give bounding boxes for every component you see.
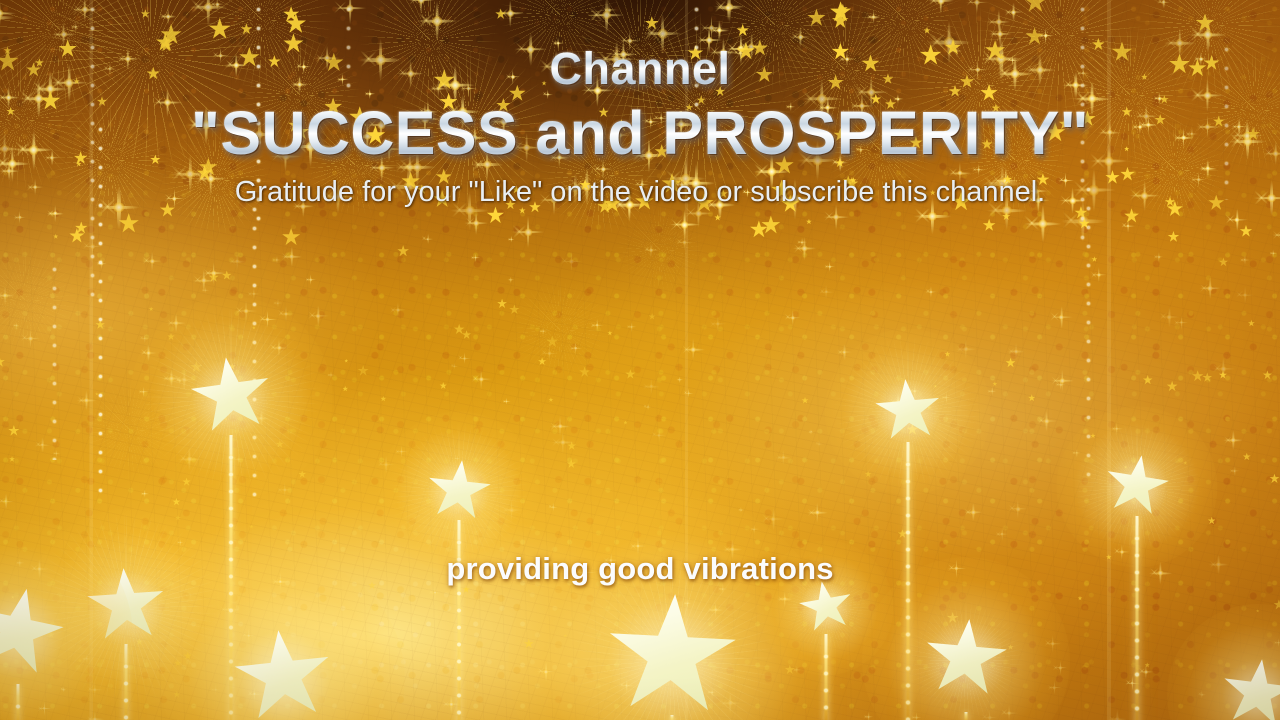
- sparkle-core: [649, 248, 653, 252]
- sparkle-icon: [631, 138, 666, 173]
- star-stalk-beads: [451, 534, 467, 720]
- sparkle-ray-diagonal: [501, 505, 510, 514]
- sparkle-ray-horizontal: [178, 458, 201, 460]
- sparkle-core: [101, 263, 104, 266]
- sparkle-core: [418, 0, 425, 4]
- sparkle-ray-horizontal: [1235, 294, 1254, 295]
- sparkle-ray-diagonal: [1231, 128, 1245, 142]
- sparkle-icon: [856, 144, 867, 155]
- mini-star-icon: [655, 144, 669, 158]
- sparkle-core: [975, 67, 980, 72]
- sparkle-core: [406, 164, 413, 171]
- sparkle-ray-horizontal: [738, 510, 744, 511]
- sparkle-icon: [1272, 224, 1280, 246]
- sparkle-ray-vertical: [790, 101, 791, 111]
- sparkle-ray-horizontal: [305, 279, 316, 280]
- mini-star-icon: [697, 95, 706, 104]
- sparkle-core: [767, 167, 776, 176]
- sparkle-ray-horizontal: [925, 291, 937, 292]
- sparkle-ray-vertical: [680, 110, 682, 140]
- sparkle-core: [915, 716, 918, 719]
- mini-star-icon: [173, 691, 180, 698]
- sparkle-ray-vertical: [1275, 141, 1277, 166]
- sparkle-ray-diagonal: [915, 207, 931, 223]
- mini-star-icon: [1143, 375, 1153, 385]
- sparkle-icon: [490, 108, 519, 137]
- sparkle-core: [237, 457, 240, 460]
- sparkle-icon: [0, 493, 14, 510]
- sparkle-ray-horizontal: [644, 406, 652, 407]
- sparkle-icon: [548, 502, 558, 512]
- sparkle-core: [1012, 59, 1015, 62]
- sparkle-ray-diagonal: [1240, 257, 1245, 262]
- sparkle-core: [891, 132, 895, 136]
- sparkle-icon: [1062, 71, 1089, 98]
- sparkle-icon: [0, 161, 19, 181]
- sparkle-ray-vertical: [84, 0, 86, 23]
- sparkle-icon: [549, 416, 570, 437]
- sparkle-ray-diagonal: [454, 457, 457, 460]
- star-stalk: [1136, 516, 1139, 720]
- sparkle-core: [510, 279, 512, 281]
- sparkle-ray-diagonal: [568, 178, 584, 194]
- sparkle-ray-vertical: [465, 106, 466, 123]
- sparkle-core: [569, 259, 574, 264]
- sparkle-ray-vertical: [999, 23, 1001, 45]
- sparkle-icon: [352, 122, 381, 151]
- sparkle-ray-diagonal: [710, 136, 715, 141]
- sparkle-icon: [248, 288, 260, 300]
- mini-star-icon: [1075, 206, 1088, 219]
- sparkle-icon: [966, 59, 988, 81]
- sparkle-ray-diagonal: [889, 397, 897, 405]
- sparkle-core: [1231, 438, 1236, 443]
- sparkle-icon: [1235, 285, 1254, 304]
- sparkle-icon: [642, 13, 683, 54]
- sparkle-ray-vertical: [650, 113, 651, 129]
- sparkle-ray-diagonal: [258, 315, 266, 323]
- sparkle-ray-diagonal: [1264, 148, 1274, 158]
- sparkle-ray-vertical: [816, 140, 819, 181]
- sparkle-core: [738, 52, 741, 55]
- sparkle-core: [306, 141, 316, 151]
- mini-star-icon: [1270, 474, 1280, 484]
- sparkle-ray-diagonal: [20, 90, 36, 106]
- sparkle-ray-diagonal: [738, 40, 750, 52]
- mini-star-icon: [141, 9, 150, 18]
- star-burst: [25, 0, 275, 180]
- mini-star-icon: [1165, 197, 1175, 207]
- sparkle-ray-vertical: [94, 711, 95, 720]
- sparkle-core: [478, 376, 483, 381]
- sparkle-ray-horizontal: [512, 231, 545, 234]
- sparkle-ray-vertical: [819, 440, 820, 448]
- mini-star-icon: [639, 690, 645, 696]
- sparkle-ray-vertical: [931, 286, 932, 298]
- sparkle-ray-diagonal: [232, 456, 238, 462]
- background-right-wash: [0, 0, 1280, 720]
- mini-star-icon: [838, 4, 848, 14]
- sparkle-ray-horizontal: [793, 670, 801, 671]
- sparkle-ray-diagonal: [417, 12, 435, 30]
- mini-star-icon: [645, 16, 659, 30]
- sparkle-ray-horizontal: [1195, 126, 1219, 128]
- sparkle-ray-horizontal: [142, 260, 163, 262]
- mini-star-icon: [283, 33, 303, 53]
- sparkle-trail: [1222, 40, 1238, 200]
- sparkle-ray-horizontal: [203, 273, 225, 275]
- sparkle-ray-diagonal: [512, 141, 525, 154]
- sparkle-ray-vertical: [1270, 180, 1273, 217]
- sparkle-icon: [1055, 380, 1066, 391]
- sparkle-ray-diagonal: [140, 348, 148, 356]
- sparkle-ray-horizontal: [451, 365, 458, 366]
- mini-star-icon: [781, 195, 799, 213]
- sparkle-icon: [536, 661, 556, 681]
- sparkle-ray-horizontal: [470, 163, 503, 166]
- sparkle-icon: [53, 450, 60, 457]
- sparkle-icon: [1198, 690, 1207, 699]
- sparkle-ray-vertical: [39, 559, 40, 579]
- sparkle-core: [819, 443, 821, 445]
- sparkle-ray-diagonal: [1008, 504, 1016, 512]
- sparkle-ray-diagonal: [176, 378, 179, 381]
- sparkle-icon: [377, 455, 395, 473]
- sparkle-ray-diagonal: [430, 85, 437, 92]
- mini-star-icon: [358, 365, 369, 376]
- sparkle-icon: [514, 33, 547, 66]
- sparkle-icon: [543, 89, 554, 100]
- sparkle-ray-diagonal: [705, 198, 718, 211]
- sparkle-ray-vertical: [1234, 466, 1235, 476]
- sparkle-ray-diagonal: [987, 16, 997, 26]
- sparkle-ray-diagonal: [1199, 165, 1206, 172]
- sparkle-ray-horizontal: [194, 177, 228, 180]
- sparkle-ray-diagonal: [643, 24, 660, 41]
- sparkle-ray-vertical: [290, 681, 292, 704]
- sparkle-icon: [710, 135, 725, 150]
- sparkle-ray-vertical: [873, 10, 874, 25]
- sparkle-ray-diagonal: [560, 256, 569, 265]
- sparkle-ray-diagonal: [676, 238, 683, 245]
- sparkle-ray-diagonal: [35, 441, 42, 448]
- sparkle-ray-diagonal: [1209, 560, 1217, 568]
- video-frame: Channel "SUCCESS and PROSPERITY" Gratitu…: [0, 0, 1280, 720]
- sparkle-core: [247, 633, 251, 637]
- sparkle-ray-horizontal: [707, 609, 724, 610]
- sparkle-ray-horizontal: [49, 81, 89, 84]
- sparkle-icon: [290, 126, 331, 167]
- sparkle-ray-diagonal: [0, 155, 10, 170]
- sparkle-core: [825, 106, 830, 111]
- sparkle-ray-horizontal: [86, 689, 104, 690]
- sparkle-ray-diagonal: [360, 50, 378, 68]
- sparkle-ray-diagonal: [777, 595, 784, 602]
- sparkle-ray-vertical: [1061, 369, 1063, 392]
- sparkle-core: [1190, 132, 1193, 135]
- sparkle-ray-diagonal: [818, 103, 827, 112]
- sparkle-ray-vertical: [302, 196, 304, 218]
- sparkle-core: [679, 379, 681, 381]
- sparkle-ray-diagonal: [269, 343, 277, 351]
- sparkle-ray-diagonal: [277, 486, 284, 493]
- sparkle-ray-horizontal: [817, 107, 838, 109]
- mini-star-icon: [184, 652, 193, 661]
- sparkle-icon: [1076, 66, 1090, 80]
- sparkle-ray-vertical: [684, 210, 686, 241]
- sparkle-core: [41, 443, 45, 447]
- sparkle-ray-horizontal: [549, 426, 570, 428]
- sparkle-ray-diagonal: [471, 157, 485, 171]
- sparkle-ray-horizontal: [427, 592, 443, 593]
- sparkle-ray-vertical: [1246, 123, 1249, 160]
- sparkle-ray-vertical: [370, 89, 371, 100]
- sparkle-icon: [986, 10, 1010, 34]
- sparkle-icon: [1263, 141, 1280, 166]
- sparkle-icon: [167, 314, 185, 332]
- sparkle-ray-diagonal: [774, 189, 792, 207]
- sparkle-ray-horizontal: [460, 88, 477, 89]
- mini-star-icon: [95, 392, 99, 396]
- sparkle-core: [181, 377, 187, 383]
- sparkle-core: [201, 121, 210, 130]
- sparkle-ray-diagonal: [808, 430, 811, 433]
- mini-star-icon: [1256, 609, 1259, 612]
- sparkle-ray-diagonal: [738, 40, 750, 52]
- sparkle-core: [659, 116, 663, 120]
- mini-star-icon: [934, 385, 937, 388]
- sparkle-ray-diagonal: [443, 700, 451, 708]
- sparkle-ray-diagonal: [992, 174, 1004, 186]
- sparkle-ray-diagonal: [1185, 130, 1191, 136]
- mini-star-icon: [249, 524, 253, 528]
- sparkle-ray-diagonal: [177, 541, 181, 545]
- sparkle-ray-vertical: [1158, 252, 1159, 262]
- sparkle-ray-vertical: [684, 234, 685, 251]
- sparkle-ray-vertical: [844, 345, 845, 361]
- mini-star-icon: [161, 24, 182, 45]
- sparkle-ray-diagonal: [839, 55, 846, 62]
- sparkle-ray-diagonal: [1038, 32, 1045, 39]
- sparkle-ray-horizontal: [677, 379, 684, 380]
- mini-star-icon: [991, 103, 1000, 112]
- sparkle-ray-diagonal: [115, 595, 120, 600]
- sparkle-ray-diagonal: [471, 157, 485, 171]
- sparkle-ray-horizontal: [272, 260, 280, 261]
- mini-star-icon: [1167, 381, 1178, 392]
- sparkle-ray-diagonal: [1198, 692, 1202, 696]
- sparkle-ray-vertical: [620, 58, 622, 79]
- sparkle-ray-diagonal: [643, 118, 650, 125]
- sparkle-ray-diagonal: [451, 364, 455, 368]
- sparkle-ray-vertical: [309, 126, 312, 167]
- sparkle-icon: [291, 76, 309, 94]
- mini-star-icon: [567, 459, 576, 468]
- sparkle-icon: [396, 59, 425, 88]
- mini-star-icon: [496, 98, 510, 112]
- sparkle-core: [187, 456, 193, 462]
- sparkle-ray-horizontal: [506, 76, 521, 77]
- sparkle-ray-horizontal: [802, 98, 842, 101]
- mini-star-icon: [579, 179, 590, 190]
- sparkle-ray-horizontal: [396, 73, 425, 75]
- sparkle-ray-diagonal: [1057, 176, 1064, 183]
- sparkle-ray-horizontal: [81, 658, 91, 659]
- sparkle-core: [897, 98, 899, 100]
- mini-star-icon: [750, 220, 768, 238]
- sparkle-ray-horizontal: [541, 352, 558, 353]
- sparkle-icon: [797, 238, 807, 248]
- sparkle-icon: [837, 345, 853, 361]
- sparkle-ray-diagonal: [377, 460, 385, 468]
- sparkle-icon: [609, 40, 638, 69]
- sparkle-core: [90, 244, 95, 249]
- sparkle-ray-diagonal: [539, 192, 552, 205]
- sparkle-ray-diagonal: [632, 147, 647, 162]
- sparkle-core: [507, 10, 514, 17]
- sparkle-ray-vertical: [388, 136, 390, 162]
- sparkle-ray-diagonal: [705, 198, 718, 211]
- sparkle-ray-horizontal: [376, 148, 402, 150]
- mini-star-icon: [603, 194, 621, 212]
- sparkle-ray-vertical: [1005, 190, 1008, 231]
- sparkle-core: [185, 169, 194, 178]
- sparkle-ray-horizontal: [1174, 322, 1189, 323]
- mini-star-icon: [845, 177, 858, 190]
- sparkle-core: [1075, 452, 1077, 454]
- sparkle-ray-diagonal: [550, 421, 559, 430]
- sparkle-ray-diagonal: [734, 50, 739, 55]
- sparkle-core: [483, 161, 491, 169]
- sparkle-ray-vertical: [462, 94, 465, 129]
- sparkle-ray-diagonal: [1274, 640, 1278, 644]
- sparkle-ray-horizontal: [602, 10, 616, 11]
- sparkle-ray-horizontal: [723, 549, 743, 550]
- sparkle-ray-vertical: [267, 310, 268, 329]
- sparkle-core: [1144, 670, 1148, 674]
- mini-star-icon: [635, 192, 654, 211]
- sparkle-ray-diagonal: [159, 12, 167, 20]
- sparkle-ray-diagonal: [1111, 426, 1117, 432]
- sparkle-icon: [1229, 123, 1266, 160]
- sparkle-ray-diagonal: [44, 154, 51, 161]
- sparkle-ray-diagonal: [506, 73, 512, 79]
- sparkle-icon: [1229, 466, 1239, 476]
- sparkle-ray-vertical: [545, 661, 547, 681]
- sparkle-ray-horizontal: [762, 518, 785, 520]
- sparkle-icon: [177, 539, 184, 546]
- sparkle-core: [963, 346, 968, 351]
- sparkle-ray-diagonal: [925, 289, 930, 294]
- sparkle-ray-horizontal: [1185, 133, 1199, 134]
- sparkle-core: [867, 88, 875, 96]
- sparkle-ray-vertical: [732, 540, 733, 560]
- sparkle-ray-diagonal: [613, 196, 627, 210]
- sparkle-ray-diagonal: [665, 169, 683, 187]
- sparkle-core: [1162, 0, 1165, 3]
- mini-star-icon: [175, 515, 181, 521]
- sparkle-ray-diagonal: [683, 602, 687, 606]
- sparkle-ray-diagonal: [399, 159, 415, 175]
- sparkle-trail: [344, 0, 360, 90]
- sparkle-icon: [1253, 180, 1280, 217]
- sparkle-ray-vertical: [337, 179, 340, 213]
- sparkle-core: [425, 109, 430, 114]
- sparkle-ray-horizontal: [167, 323, 185, 324]
- sparkle-icon: [717, 584, 727, 594]
- sparkle-ray-diagonal: [725, 41, 738, 54]
- sparkle-ray-horizontal: [536, 671, 556, 673]
- star-burst: [1120, 115, 1230, 225]
- sparkle-ray-horizontal: [1231, 126, 1247, 127]
- sparkle-icon: [950, 45, 962, 57]
- star-burst: [75, 375, 185, 485]
- sparkle-ray-vertical: [475, 254, 476, 263]
- sparkle-ray-diagonal: [818, 103, 827, 112]
- sparkle-core: [1044, 34, 1048, 38]
- sparkle-ray-diagonal: [802, 90, 819, 107]
- sparkle-ray-vertical: [215, 683, 216, 696]
- mini-star-icon: [804, 563, 811, 570]
- sparkle-icon: [849, 94, 873, 118]
- star-bottom-edge: [0, 0, 1280, 720]
- mini-star-icon: [607, 331, 612, 336]
- sparkle-ray-diagonal: [1060, 195, 1071, 206]
- sparkle-icon: [677, 377, 684, 384]
- sparkle-ray-diagonal: [508, 278, 511, 281]
- mini-star-icon: [1045, 122, 1065, 142]
- sparkle-ray-diagonal: [1159, 312, 1168, 321]
- sparkle-icon: [172, 368, 196, 392]
- sparkle-ray-horizontal: [514, 48, 547, 50]
- sparkle-ray-vertical: [235, 53, 237, 77]
- sparkle-ray-diagonal: [1157, 0, 1163, 4]
- sparkle-ray-diagonal: [676, 378, 679, 381]
- sparkle-ray-diagonal: [1025, 63, 1038, 76]
- sparkle-ray-diagonal: [850, 100, 860, 110]
- mini-star-icon: [9, 456, 15, 462]
- sparkle-ray-horizontal: [0, 501, 14, 502]
- mini-star-icon: [519, 207, 526, 214]
- star-left-tall: [0, 0, 1280, 720]
- sparkle-core: [645, 151, 654, 160]
- sparkle-core: [144, 493, 146, 495]
- mini-star-icon: [927, 405, 932, 410]
- sparkle-ray-vertical: [695, 164, 698, 204]
- sparkle-core: [1115, 427, 1118, 430]
- star-glow: [161, 557, 405, 720]
- mini-star-icon: [1196, 14, 1214, 32]
- sparkle-core: [543, 330, 545, 332]
- sparkle-ray-horizontal: [1044, 643, 1062, 644]
- mini-star-icon: [298, 470, 305, 477]
- sparkle-ray-horizontal: [172, 379, 196, 381]
- sparkle-ray-diagonal: [1235, 290, 1243, 298]
- sparkle-core: [37, 567, 42, 572]
- sparkle-ray-vertical: [898, 94, 899, 104]
- sparkle-ray-diagonal: [399, 159, 415, 175]
- sparkle-ray-diagonal: [714, 0, 728, 13]
- sparkle-icon: [710, 21, 730, 41]
- sparkle-ray-diagonal: [709, 320, 717, 328]
- sparkle-core: [709, 25, 715, 31]
- sparkle-ray-vertical: [1147, 115, 1148, 134]
- sparkle-ray-vertical: [1013, 56, 1016, 92]
- sparkle-core: [944, 37, 954, 47]
- sparkle-ray-horizontal: [1072, 189, 1116, 192]
- sparkle-core: [243, 308, 249, 314]
- sparkle-core: [1088, 94, 1097, 103]
